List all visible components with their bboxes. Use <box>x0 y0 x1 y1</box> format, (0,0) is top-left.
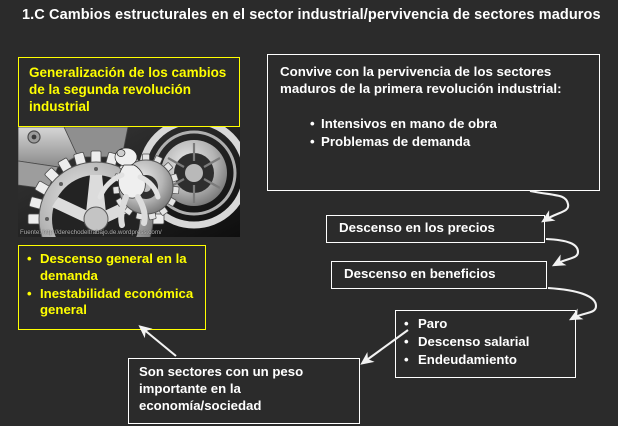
arrow-precios-to-beneficios <box>546 239 578 264</box>
descenso-demanda-bullet-list: Descenso general en la demanda Inestabil… <box>27 251 201 319</box>
list-item: Paro <box>418 316 575 333</box>
box-descenso-precios: Descenso en los precios <box>326 215 545 243</box>
photo-credit: Fuente: http://derechodeltrabajo.de.word… <box>20 229 238 236</box>
list-item: Endeudamiento <box>418 352 575 369</box>
list-item: Descenso salarial <box>418 334 575 351</box>
convive-bullet-list: Intensivos en mano de obra Problemas de … <box>280 116 589 151</box>
box-paro-consecuencias: Paro Descenso salarial Endeudamiento <box>395 310 576 378</box>
list-item: Problemas de demanda <box>321 134 589 151</box>
page-title: 1.C Cambios estructurales en el sector i… <box>22 6 607 25</box>
arrow-son-sectores-to-descenso-demanda <box>142 328 176 356</box>
paro-bullet-list: Paro Descenso salarial Endeudamiento <box>404 316 575 368</box>
list-item: Intensivos en mano de obra <box>321 116 589 133</box>
box-generalizacion-cambios: Generalización de los cambios de la segu… <box>18 57 240 127</box>
industrial-gears-photo: Fuente: http://derechodeltrabajo.de.word… <box>18 127 240 237</box>
box-descenso-demanda: Descenso general en la demanda Inestabil… <box>18 245 206 330</box>
convive-intro-text: Convive con la pervivencia de los sector… <box>280 64 589 98</box>
gears-illustration <box>18 127 240 237</box>
list-item: Descenso general en la demanda <box>40 251 201 285</box>
slide-canvas: 1.C Cambios estructurales en el sector i… <box>0 0 618 426</box>
box-son-sectores-peso: Son sectores con un peso importante en l… <box>128 358 360 424</box>
box-convive-pervivencia: Convive con la pervivencia de los sector… <box>267 54 600 191</box>
list-item: Inestabilidad económica general <box>40 286 201 320</box>
box-descenso-beneficios: Descenso en beneficios <box>331 261 547 289</box>
